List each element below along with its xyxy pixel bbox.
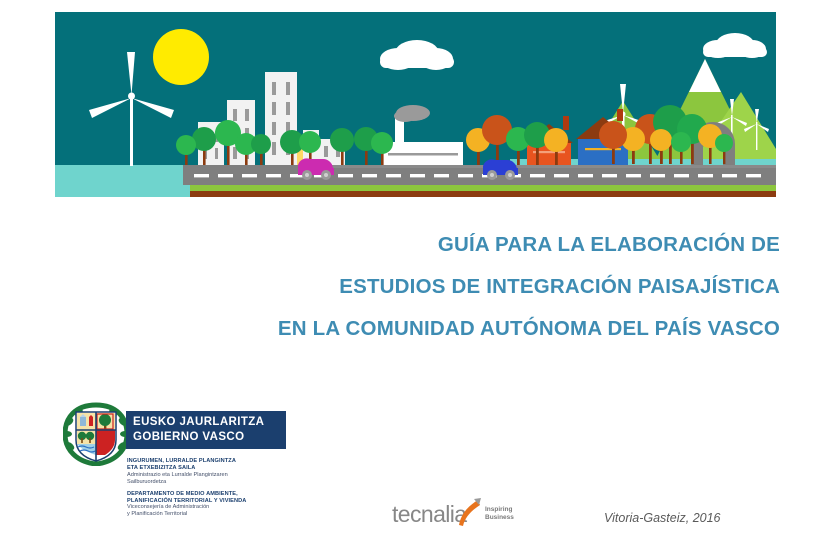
grass-strip <box>190 185 776 191</box>
tagline-line-1: Inspiring <box>485 506 514 514</box>
soil-strip <box>190 191 776 197</box>
smoke-icon <box>394 110 416 122</box>
tagline-line-2: Business <box>485 514 514 522</box>
basque-coat-of-arms-icon <box>63 402 129 466</box>
water-left-bottom <box>55 185 190 197</box>
gov-name-eu: EUSKO JAURLARITZA <box>133 415 286 430</box>
dept-eu-line-2: ETA ETXEBIZITZA SAILA <box>127 465 295 472</box>
subdept-eu-line-1: Administrazio eta Lurralde Plangintzaren <box>127 472 295 479</box>
tecnalia-swoosh-icon <box>456 498 482 528</box>
road-upper <box>332 165 776 168</box>
subdept-eu-line-2: Sailburuordetza <box>127 479 295 486</box>
title-line-3: EN LA COMUNIDAD AUTÓNOMA DEL PAÍS VASCO <box>0 316 780 341</box>
dept-es-line-2: PLANIFICACIÓN TERRITORIAL Y VIVIENDA <box>127 498 295 505</box>
sun-icon <box>153 29 209 85</box>
place-and-year: Vitoria-Gasteiz, 2016 <box>604 511 721 525</box>
title-line-1: GUÍA PARA LA ELABORACIÓN DE <box>0 232 780 257</box>
government-name-banner: EUSKO JAURLARITZA GOBIERNO VASCO <box>126 411 286 449</box>
title-line-2: ESTUDIOS DE INTEGRACIÓN PAISAJÍSTICA <box>0 274 780 299</box>
dept-eu-line-1: INGURUMEN, LURRALDE PLANGINTZA <box>127 458 295 465</box>
dept-es-line-1: DEPARTAMENTO DE MEDIO AMBIENTE, <box>127 491 295 498</box>
tecnalia-logo: tecnalia Inspiring Business <box>392 500 512 530</box>
cover-illustration <box>55 12 776 197</box>
page-title: GUÍA PARA LA ELABORACIÓN DE ESTUDIOS DE … <box>0 232 780 341</box>
subdept-es-line-2: y Planificación Territorial <box>127 511 295 518</box>
tecnalia-tagline: Inspiring Business <box>485 506 514 522</box>
subdept-es-line-1: Viceconsejería de Administración <box>127 504 295 511</box>
gov-name-es: GOBIERNO VASCO <box>133 430 286 445</box>
basque-government-logo: EUSKO JAURLARITZA GOBIERNO VASCO INGURUM… <box>63 402 295 537</box>
department-texts: INGURUMEN, LURRALDE PLANGINTZA ETA ETXEB… <box>127 458 295 518</box>
